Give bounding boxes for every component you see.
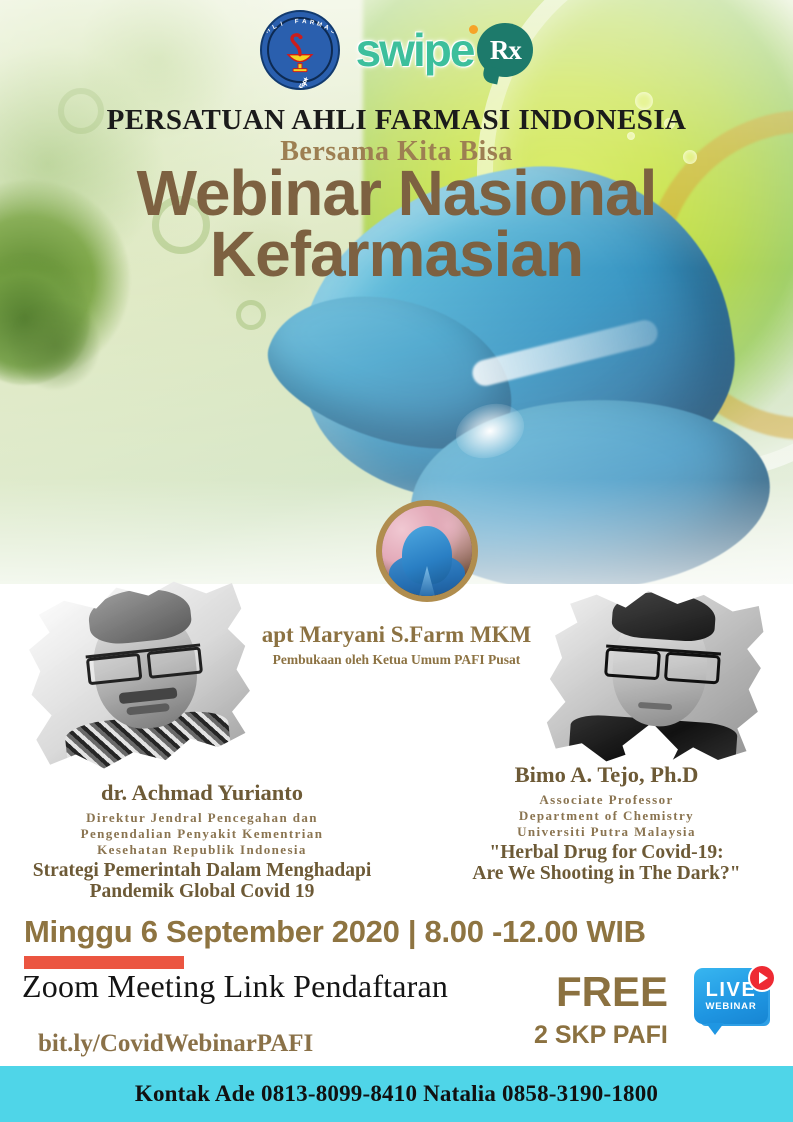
rx-speech-bubble-icon: Rx (477, 23, 533, 77)
right-speaker-topic-line2: Are We Shooting in The Dark?" (420, 863, 793, 885)
center-speaker-name: apt Maryani S.Farm MKM (0, 622, 793, 648)
left-speaker-role-line2: Pengendalian Penyakit Kementrian (0, 826, 412, 842)
skp-credit-label: 2 SKP PAFI (534, 1021, 668, 1050)
rx-label: Rx (490, 35, 521, 66)
bowl-of-hygieia-icon (278, 31, 322, 75)
center-speaker-avatar (376, 500, 478, 602)
right-speaker-role: Associate Professor Department of Chemis… (420, 792, 793, 840)
live-webinar-badge: LIVE WEBINAR (694, 968, 780, 1042)
association-title: PERSATUAN AHLI FARMASI INDONESIA (0, 104, 793, 137)
left-speaker-role-line3: Kesehatan Republik Indonesia (0, 842, 412, 858)
right-speaker-topic-line1: "Herbal Drug for Covid-19: (420, 842, 793, 864)
left-speaker-role: Direktur Jendral Pencegahan dan Pengenda… (0, 810, 412, 858)
badge-webinar-text: WEBINAR (706, 1002, 757, 1012)
center-speaker-subtitle: Pembukaan oleh Ketua Umum PAFI Pusat (0, 652, 793, 668)
play-button-icon (748, 964, 776, 992)
contact-text: Kontak Ade 0813-8099-8410 Natalia 0858-3… (135, 1081, 658, 1107)
swipe-i-dot-icon (469, 25, 478, 34)
left-speaker-topic: Strategi Pemerintah Dalam Menghadapi Pan… (0, 860, 412, 904)
left-speaker-topic-line2: Pandemik Global Covid 19 (0, 881, 412, 903)
pafi-logo-icon: PERSATUAN AHLI FARMASI INDONESIA★ P A F … (260, 10, 340, 90)
right-speaker-info: Bimo A. Tejo, Ph.D Associate Professor D… (420, 762, 793, 885)
contact-bar: Kontak Ade 0813-8099-8410 Natalia 0858-3… (0, 1066, 793, 1122)
left-speaker-role-line1: Direktur Jendral Pencegahan dan (0, 810, 412, 826)
left-speaker-topic-line1: Strategi Pemerintah Dalam Menghadapi (0, 860, 412, 882)
right-speaker-role-line1: Associate Professor (420, 792, 793, 808)
page-title-line2: Kefarmasian (0, 224, 793, 285)
right-speaker-name: Bimo A. Tejo, Ph.D (420, 762, 793, 788)
free-label: FREE (556, 968, 668, 1016)
right-speaker-topic: "Herbal Drug for Covid-19: Are We Shooti… (420, 842, 793, 886)
swipe-wordmark: swipe (356, 27, 474, 73)
webinar-poster: PERSATUAN AHLI FARMASI INDONESIA★ P A F … (0, 0, 793, 1122)
right-speaker-role-line2: Department of Chemistry (420, 808, 793, 824)
page-title: Webinar Nasional Kefarmasian (0, 163, 793, 285)
registration-link[interactable]: bit.ly/CovidWebinarPAFI (38, 1030, 313, 1058)
left-speaker-name: dr. Achmad Yurianto (0, 780, 412, 806)
logo-row: PERSATUAN AHLI FARMASI INDONESIA★ P A F … (0, 4, 793, 96)
swiperx-logo: swipe Rx (356, 23, 534, 77)
zoom-registration-label: Zoom Meeting Link Pendaftaran (22, 968, 448, 1005)
right-speaker-role-line3: Universiti Putra Malaysia (420, 824, 793, 840)
event-datetime: Minggu 6 September 2020 | 8.00 -12.00 WI… (24, 914, 646, 950)
left-speaker-info: dr. Achmad Yurianto Direktur Jendral Pen… (0, 780, 412, 903)
